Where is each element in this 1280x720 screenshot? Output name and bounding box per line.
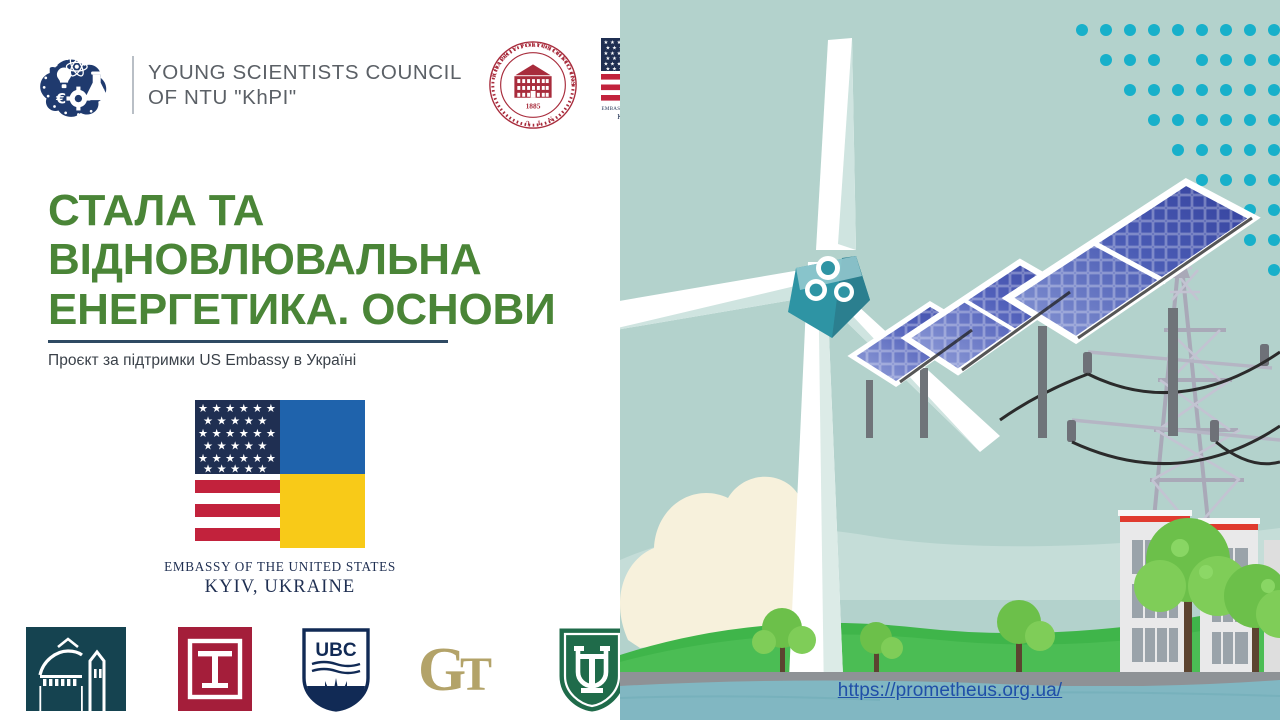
tulane-university-logo — [556, 626, 628, 712]
svg-text:★ ★ ★ ★ ★: ★ ★ ★ ★ ★ — [203, 440, 267, 453]
young-scientists-council-logo: € Σ — [32, 46, 462, 124]
presentation-slide: € Σ — [0, 0, 1280, 720]
embassy-logo-large: ★ ★ ★ ★ ★ ★ ★ ★ ★ ★ ★ ★ ★ ★ ★ ★ ★ ★ ★ ★ … — [155, 400, 405, 598]
title-underline-rule — [48, 340, 448, 343]
page-title: СТАЛА ТА ВІДНОВЛЮВАЛЬНА ЕНЕРГЕТИКА. ОСНО… — [48, 186, 623, 334]
illustration-panel: https://prometheus.org.ua/ — [620, 0, 1280, 720]
partner-logo-row: UBC — [0, 626, 620, 712]
us-ukraine-flag-icon: ★ ★ ★ ★ ★ ★ ★ ★ ★ ★ ★ ★ ★ ★ ★ ★ ★ ★ ★ ★ … — [195, 400, 365, 548]
left-content-panel: € Σ — [0, 0, 620, 720]
georgia-tech-logo: G T — [416, 634, 512, 704]
page-subtitle: Проєкт за підтримки US Embassy в Україні — [48, 352, 623, 370]
title-block: СТАЛА ТА ВІДНОВЛЮВАЛЬНА ЕНЕРГЕТИКА. ОСНО… — [48, 186, 623, 370]
svg-text:UBC: UBC — [315, 640, 356, 661]
prometheus-url-link[interactable]: https://prometheus.org.ua/ — [620, 680, 1280, 702]
brain-science-icon: € Σ — [32, 46, 120, 124]
temple-university-logo — [178, 627, 252, 711]
svg-text:1885: 1885 — [526, 102, 541, 111]
svg-text:★ ★ ★ ★ ★: ★ ★ ★ ★ ★ — [203, 415, 267, 428]
svg-text:★ ★ ★ ★ ★ ★: ★ ★ ★ ★ ★ ★ — [198, 402, 276, 415]
header-logo-row: € Σ — [32, 40, 692, 130]
embassy-large-caption-2: KYIV, UKRAINE — [205, 577, 356, 598]
logo-divider — [132, 56, 134, 114]
khpi-seal-icon: KHARKIV POLYTECHNIC INSTITUTE N T U — [484, 36, 582, 134]
svg-text:★ ★ ★ ★ ★ ★: ★ ★ ★ ★ ★ ★ — [198, 427, 276, 440]
svg-text:Σ: Σ — [96, 88, 106, 104]
university-dome-building-logo — [26, 627, 126, 711]
svg-text:€: € — [55, 91, 66, 107]
ysc-logo-text: YOUNG SCIENTISTS COUNCIL OF NTU "KhPI" — [148, 60, 462, 110]
svg-text:G: G — [418, 636, 466, 704]
svg-text:T: T — [460, 648, 492, 701]
renewable-energy-illustration — [620, 0, 1280, 720]
embassy-large-caption-1: EMBASSY OF THE UNITED STATES — [164, 559, 396, 575]
svg-text:★ ★ ★ ★ ★: ★ ★ ★ ★ ★ — [203, 463, 267, 476]
ubc-logo: UBC — [300, 626, 372, 712]
